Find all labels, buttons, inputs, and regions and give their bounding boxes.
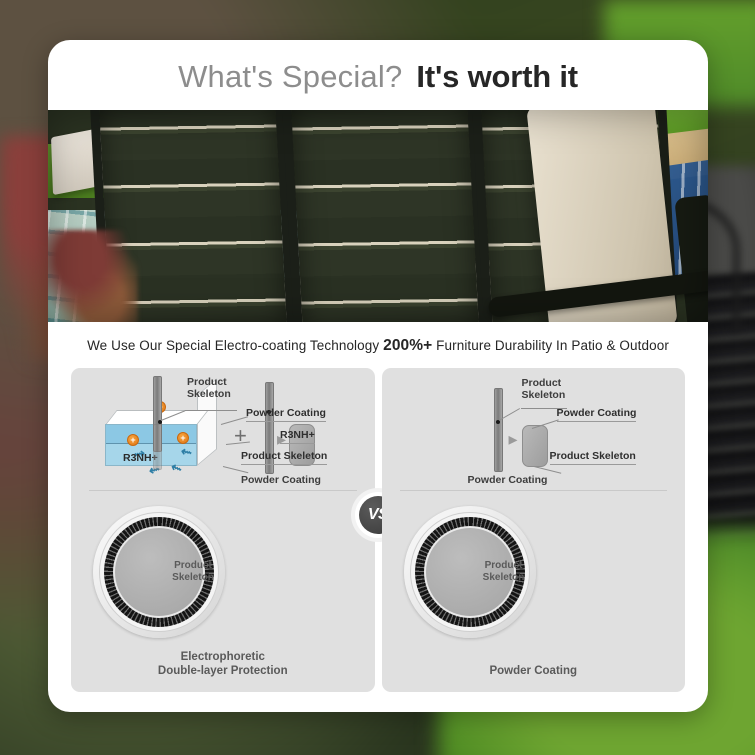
callout-label-product-skeleton: Product Skeleton bbox=[550, 450, 636, 465]
callout-label-powder-coating: Powder Coating bbox=[557, 407, 637, 422]
xsec-core: Product Skeleton bbox=[426, 528, 514, 616]
subtitle-after: Furniture Durability In Patio & Outdoor bbox=[436, 338, 669, 353]
comparison-section: + + − ⇝ ⇝ ⇝ ⇝ R3NH+ Product Skeleton bbox=[48, 368, 708, 712]
callout-label-r3nh: R3NH+ bbox=[280, 429, 315, 444]
plus-operator: + bbox=[234, 423, 247, 449]
spray-nozzle-icon: ▸ bbox=[509, 430, 518, 448]
electrophoretic-cross-section: Product Skeleton bbox=[93, 506, 225, 638]
leader-line-left-rod-2 bbox=[185, 410, 237, 411]
page-title-muted: What's Special? bbox=[178, 59, 402, 95]
subtitle-highlight: 200%+ bbox=[383, 337, 432, 354]
xsec-core-label: Product Skeleton bbox=[449, 560, 525, 584]
cation-marker-left: + bbox=[127, 434, 139, 446]
callout-label-powder-coating: Powder Coating bbox=[246, 407, 326, 422]
panel-caption-right: Powder Coating bbox=[382, 664, 686, 678]
callout-label-product-skeleton: Product Skeleton bbox=[241, 450, 327, 465]
xsec-core-label: Product Skeleton bbox=[138, 560, 214, 584]
xsec-core: Product Skeleton bbox=[115, 528, 203, 616]
panel-caption-left: Electrophoretic Double-layer Protection bbox=[71, 650, 375, 678]
panel-powder-coating: Product Skeleton ▸ Powder Coating Produc… bbox=[382, 368, 686, 692]
powder-coating-label-left: Powder Coating bbox=[241, 474, 321, 486]
subtitle-line: We Use Our Special Electro-coating Techn… bbox=[48, 322, 708, 368]
powder-spray-unit bbox=[522, 425, 548, 467]
powder-coating-label-right: Powder Coating bbox=[468, 474, 548, 486]
cation-marker-right: + bbox=[177, 432, 189, 444]
infographic-card: What's Special? It's worth it We Use Our… bbox=[48, 40, 708, 712]
product-skeleton-rod-right bbox=[494, 388, 503, 472]
subtitle-before: We Use Our Special Electro-coating Techn… bbox=[87, 338, 379, 353]
powder-coating-cross-section: Product Skeleton bbox=[404, 506, 536, 638]
hero-photo bbox=[48, 110, 708, 322]
submerged-rod-segment bbox=[153, 424, 162, 470]
page-title-bold: It's worth it bbox=[416, 59, 577, 95]
photo-vignette bbox=[48, 110, 708, 322]
product-skeleton-label-right: Product Skeleton bbox=[522, 377, 566, 401]
card-header: What's Special? It's worth it bbox=[48, 40, 708, 110]
product-skeleton-label-left: Product Skeleton bbox=[187, 376, 231, 400]
panel-electrophoretic: + + − ⇝ ⇝ ⇝ ⇝ R3NH+ Product Skeleton bbox=[71, 368, 375, 692]
